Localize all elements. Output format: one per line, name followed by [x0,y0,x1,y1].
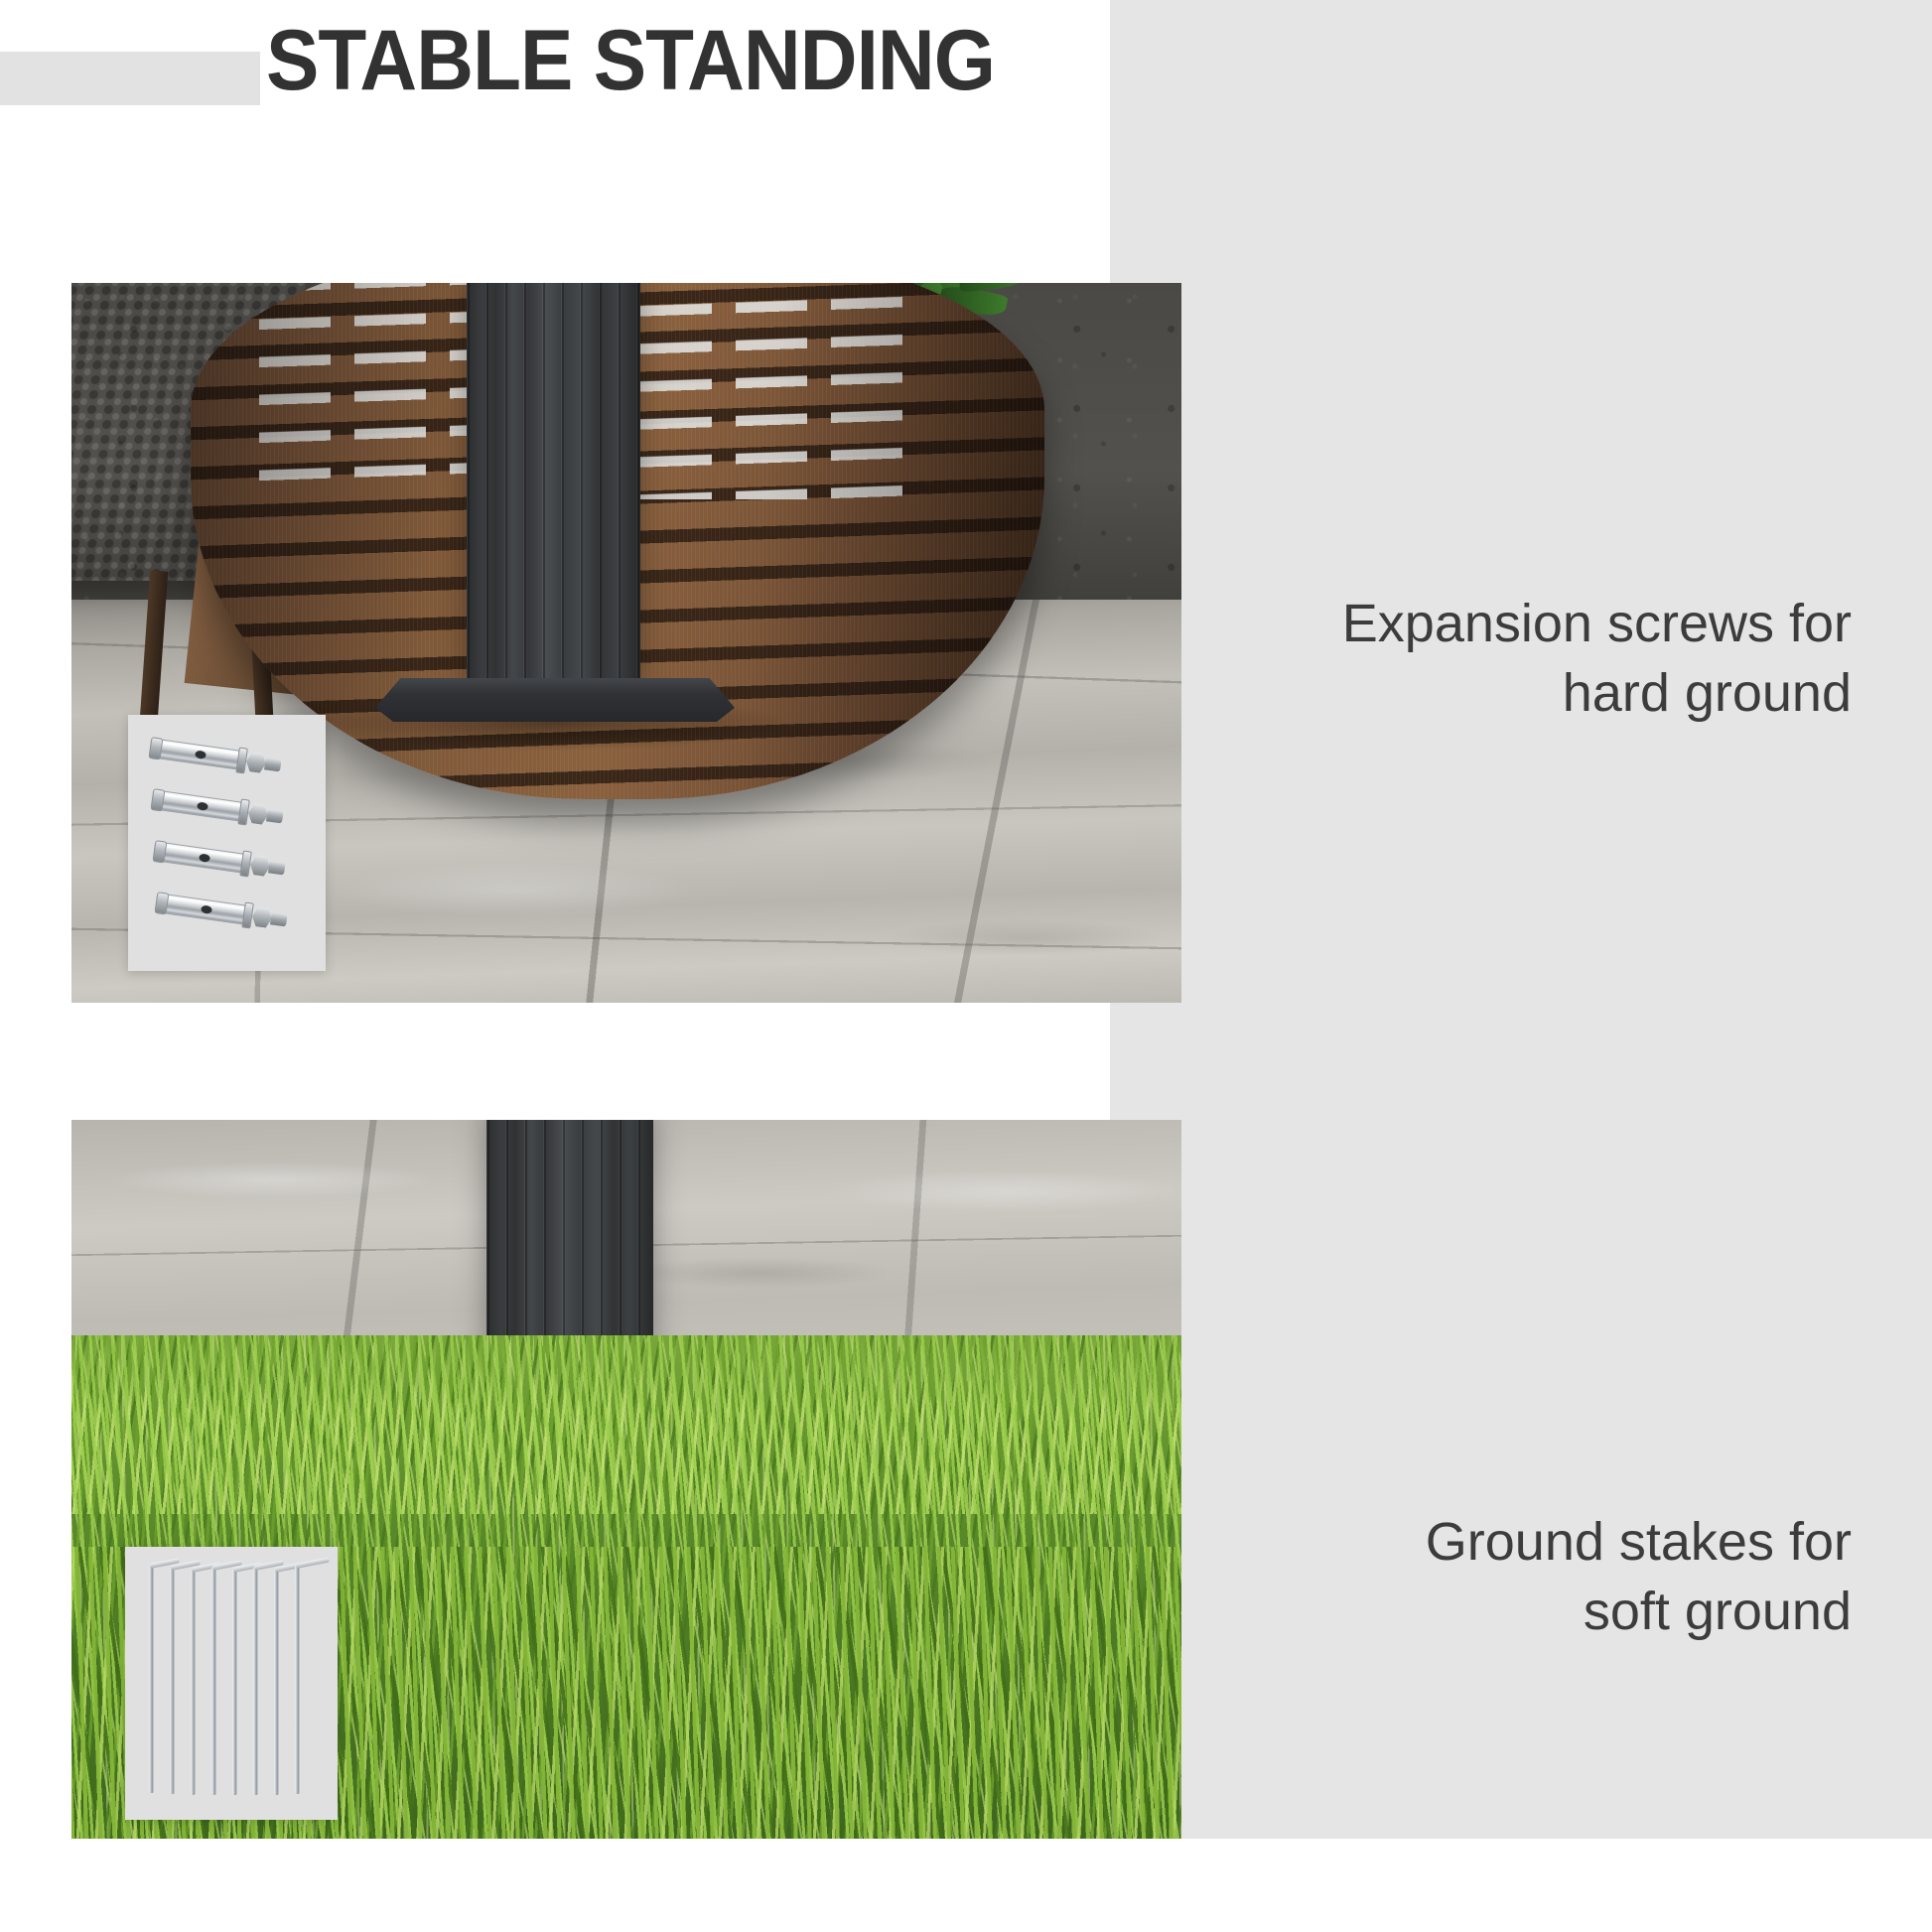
inset-expansion-screws [128,715,326,971]
caption-line: Expansion screws for [1236,589,1852,658]
stake-shaft [170,1567,175,1794]
grass-top-blades [71,1335,1181,1514]
caption-line: Ground stakes for [1236,1507,1852,1577]
screw-nut [245,752,268,774]
screw-tip [268,861,286,875]
post-flute-lines [467,283,640,688]
stake-shaft [191,1569,196,1795]
stake-hook [296,1558,330,1569]
page-title: STABLE STANDING [266,16,995,105]
stake-shaft [149,1565,154,1793]
feature-photo-soft-ground [71,1120,1181,1839]
stake-shaft [253,1567,258,1795]
stake-shaft [232,1569,237,1795]
expansion-screw [154,892,285,931]
expansion-screw [152,840,283,880]
title-accent-bar [0,52,260,105]
screw-nut [249,855,272,878]
screw-tip [270,912,288,926]
inset-ground-stakes [125,1547,338,1820]
expansion-screw [150,788,281,828]
feature-photo-hard-ground [71,283,1181,1003]
caption-soft-ground: Ground stakes for soft ground [1236,1507,1852,1646]
caption-line: soft ground [1236,1577,1852,1646]
post-base-plate [375,678,735,722]
stake-shaft [295,1565,300,1794]
stake-shaft [274,1569,279,1795]
caption-line: hard ground [1236,658,1852,728]
screw-tip [264,758,282,771]
product-feature-graphic: STABLE STANDING [0,0,1932,1932]
caption-hard-ground: Expansion screws for hard ground [1236,589,1852,728]
screw-tip [266,809,284,823]
expansion-screw [148,737,279,776]
screw-nut [251,906,274,929]
screw-nut [247,803,270,826]
stake-shaft [211,1567,216,1795]
white-backdrop-panel-bottom [0,1839,1932,1932]
pergola-post [467,283,640,688]
